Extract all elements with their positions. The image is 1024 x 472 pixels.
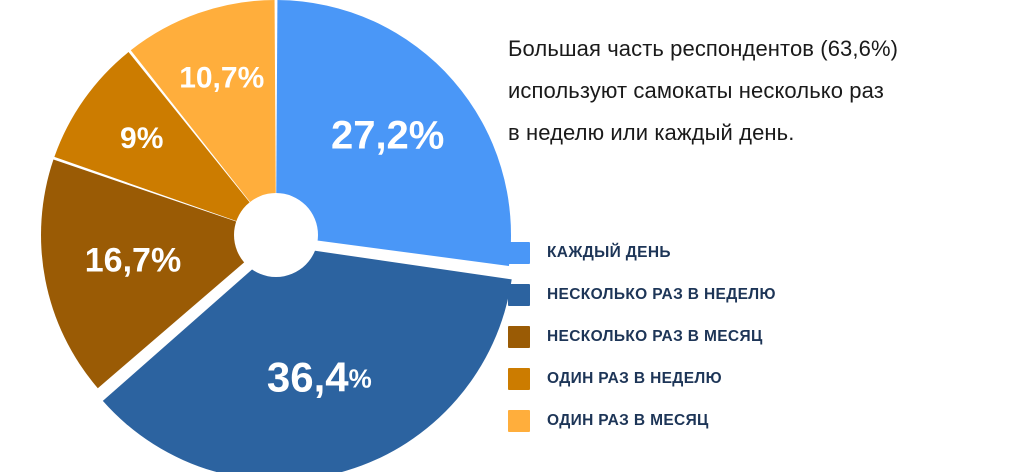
legend-color-swatch [508, 326, 530, 348]
legend-item-label: ОДИН РАЗ В МЕСЯЦ [547, 412, 709, 430]
pie-slice-value-label: 10,7% [179, 62, 264, 95]
caption-line-1: Большая часть респондентов (63,6%) [508, 28, 978, 70]
legend-item-label: НЕСКОЛЬКО РАЗ В НЕДЕЛЮ [547, 286, 776, 304]
pie-slice-value-label: 9% [120, 122, 163, 155]
legend-color-swatch [508, 368, 530, 390]
legend-item[interactable]: КАЖДЫЙ ДЕНЬ [508, 232, 978, 274]
legend-item[interactable]: ОДИН РАЗ В МЕСЯЦ [508, 400, 978, 442]
chart-legend: КАЖДЫЙ ДЕНЬНЕСКОЛЬКО РАЗ В НЕДЕЛЮНЕСКОЛЬ… [508, 232, 978, 442]
pie-chart-infographic: 27,2%36,4%16,7%9%10,7% Большая часть рес… [0, 0, 1024, 472]
legend-item[interactable]: НЕСКОЛЬКО РАЗ В НЕДЕЛЮ [508, 274, 978, 316]
legend-item-label: ОДИН РАЗ В НЕДЕЛЮ [547, 370, 722, 388]
pie-chart-area: 27,2%36,4%16,7%9%10,7% [0, 0, 520, 472]
caption-line-3: в неделю или каждый день. [508, 112, 978, 154]
legend-item-label: НЕСКОЛЬКО РАЗ В МЕСЯЦ [547, 328, 763, 346]
right-panel: Большая часть респондентов (63,6%) испол… [508, 0, 1024, 472]
donut-hole [234, 193, 318, 277]
legend-color-swatch [508, 242, 530, 264]
caption-line-2: используют самокаты несколько раз [508, 70, 978, 112]
pie-chart-svg: 27,2%36,4%16,7%9%10,7% [0, 0, 520, 472]
legend-color-swatch [508, 284, 530, 306]
legend-item[interactable]: НЕСКОЛЬКО РАЗ В МЕСЯЦ [508, 316, 978, 358]
caption-text: Большая часть респондентов (63,6%) испол… [508, 28, 978, 154]
legend-item[interactable]: ОДИН РАЗ В НЕДЕЛЮ [508, 358, 978, 400]
pie-slice-value-label: 16,7% [85, 242, 181, 280]
legend-item-label: КАЖДЫЙ ДЕНЬ [547, 244, 671, 262]
pie-slice-value-label: 27,2% [331, 113, 444, 157]
legend-color-swatch [508, 410, 530, 432]
